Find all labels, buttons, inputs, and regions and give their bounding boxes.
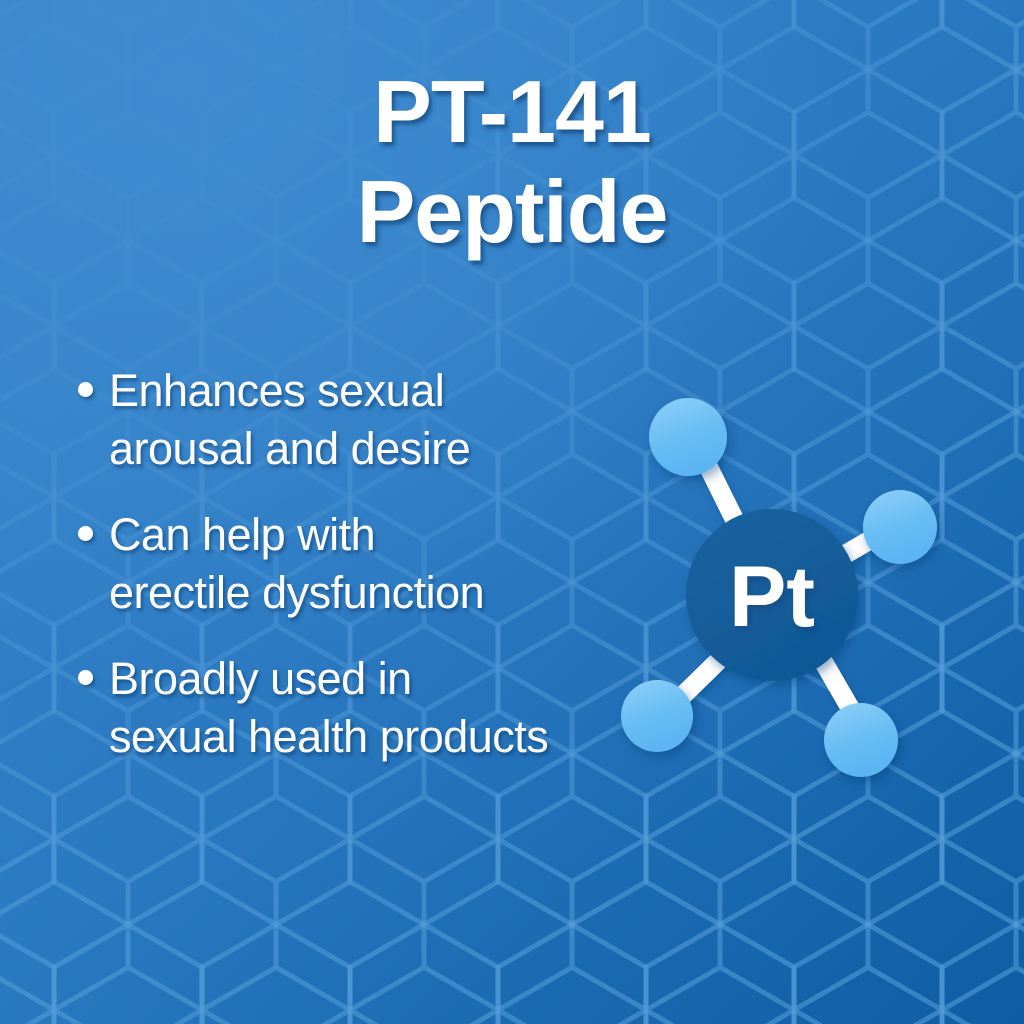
bullet-line-2: arousal and desire bbox=[109, 423, 470, 474]
list-item: Can help with erectile dysfunction bbox=[78, 506, 658, 622]
bullet-text: Broadly used in sexual health products bbox=[109, 650, 548, 766]
bullet-text: Can help with erectile dysfunction bbox=[109, 506, 484, 622]
title-line-1: PT-141 bbox=[0, 62, 1024, 162]
molecule-illustration: Pt bbox=[600, 380, 980, 800]
bullet-line-2: sexual health products bbox=[109, 711, 548, 762]
bullet-line-1: Enhances sexual bbox=[109, 365, 444, 416]
bullet-dot-icon bbox=[78, 526, 93, 541]
atom-core-label: Pt bbox=[729, 549, 815, 645]
title-line-2: Peptide bbox=[0, 162, 1024, 262]
bullet-line-1: Can help with bbox=[109, 509, 375, 560]
bullet-line-1: Broadly used in bbox=[109, 653, 412, 704]
bullet-text: Enhances sexual arousal and desire bbox=[109, 362, 470, 478]
list-item: Broadly used in sexual health products bbox=[78, 650, 658, 766]
atom-bottom-left bbox=[621, 680, 693, 752]
infographic-canvas: PT-141 Peptide Enhances sexual arousal a… bbox=[0, 0, 1024, 1024]
bullet-line-2: erectile dysfunction bbox=[109, 567, 484, 618]
bullet-dot-icon bbox=[78, 670, 93, 685]
atom-right bbox=[863, 490, 937, 564]
bullet-dot-icon bbox=[78, 382, 93, 397]
atom-top-left bbox=[649, 398, 727, 476]
page-title: PT-141 Peptide bbox=[0, 62, 1024, 262]
atom-bottom-right bbox=[824, 703, 898, 777]
benefits-list: Enhances sexual arousal and desire Can h… bbox=[78, 362, 658, 794]
list-item: Enhances sexual arousal and desire bbox=[78, 362, 658, 478]
